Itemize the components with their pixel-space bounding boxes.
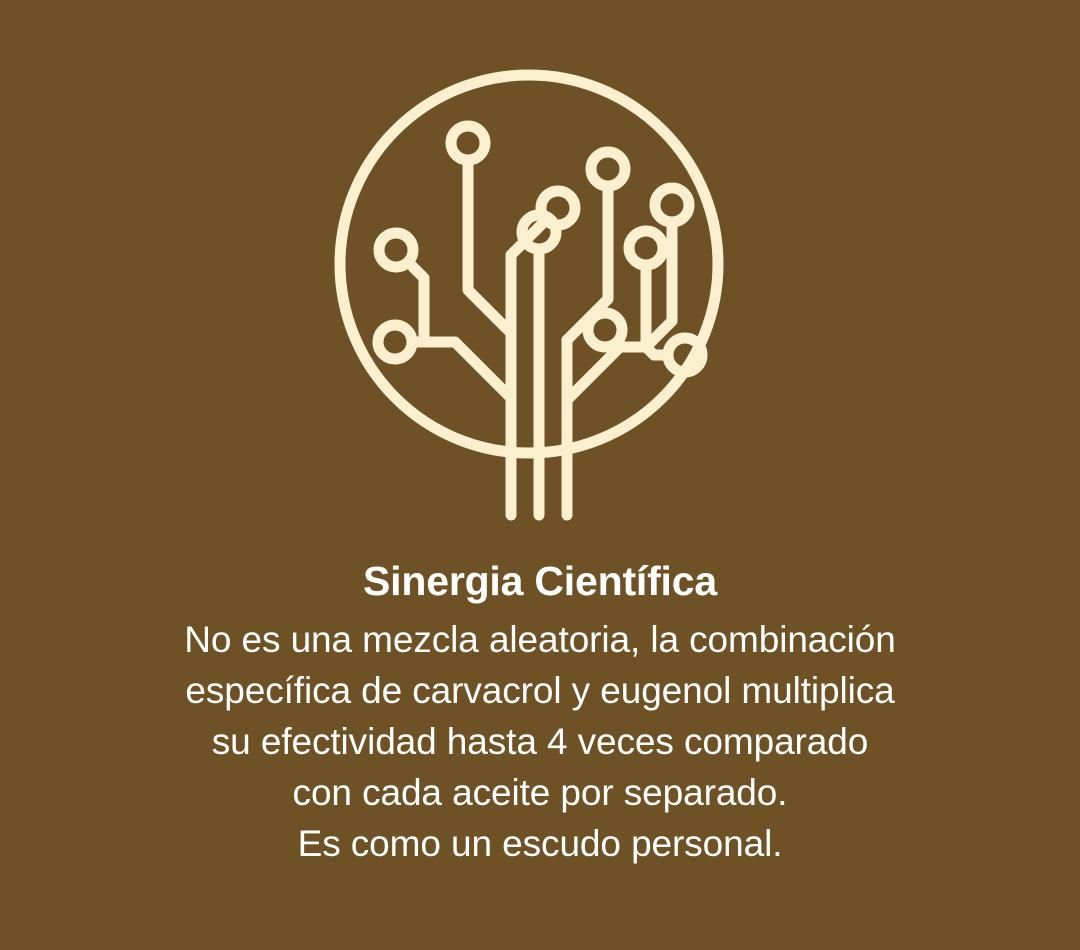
circuit-tree-icon	[0, 0, 1080, 545]
node-left-lower	[378, 325, 412, 359]
icon-container	[0, 0, 1080, 545]
body-line: con cada aceite por separado.	[0, 767, 1080, 818]
body-line: No es una mezcla aleatoria, la combinaci…	[0, 614, 1080, 665]
page-title: Sinergia Científica	[0, 556, 1080, 606]
branch-left-lower	[424, 342, 511, 398]
node-top-right	[591, 152, 625, 186]
node-right-lower-inner	[588, 313, 622, 347]
branch-right-foot	[646, 347, 668, 355]
branch-left-main	[468, 160, 511, 333]
node-top-left-upper	[451, 126, 485, 160]
branch-right-lower	[567, 347, 646, 400]
body-line: Es como un escudo personal.	[0, 818, 1080, 869]
text-block: Sinergia Científica No es una mezcla ale…	[0, 556, 1080, 869]
icon-outer-circle	[340, 75, 718, 453]
node-left-upper	[379, 233, 413, 267]
branch-center-diagonal	[511, 225, 541, 333]
node-right-foot	[668, 338, 702, 372]
body-line: su efectividad hasta 4 veces comparado	[0, 716, 1080, 767]
branch-right-outer	[646, 222, 672, 347]
branch-left-riser	[413, 267, 424, 342]
node-right-mid	[629, 231, 663, 265]
scientific-synergy-card: Sinergia Científica No es una mezcla ale…	[0, 0, 1080, 950]
branch-right-main	[567, 186, 608, 340]
body-copy: No es una mezcla aleatoria, la combinaci…	[0, 614, 1080, 869]
node-center	[522, 215, 556, 249]
node-center-upper	[541, 191, 575, 225]
node-right-upper	[655, 188, 689, 222]
body-line: específica de carvacrol y eugenol multip…	[0, 665, 1080, 716]
